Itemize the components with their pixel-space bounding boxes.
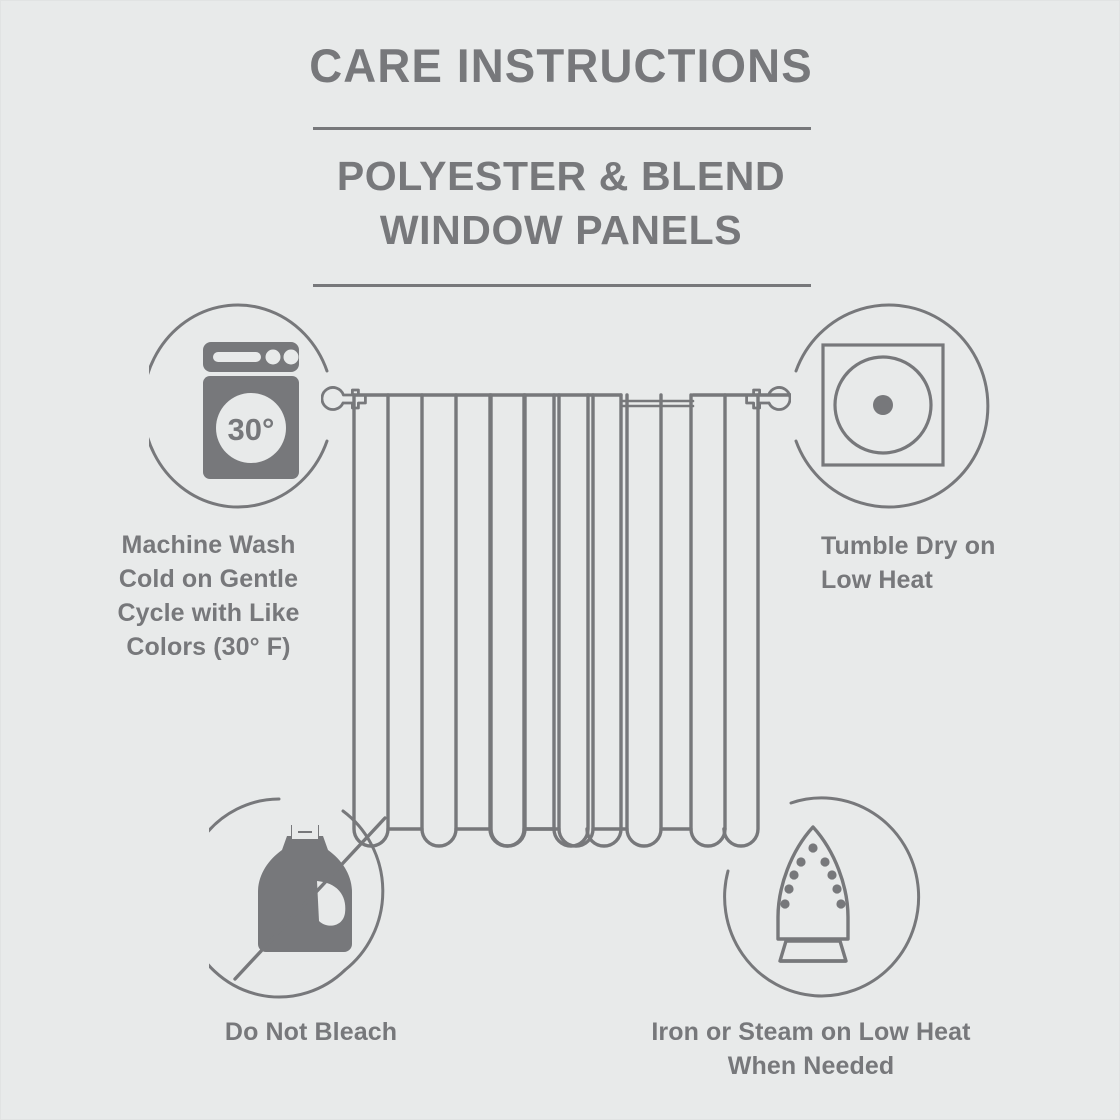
iron-steam-holes	[780, 843, 845, 908]
caption-do-not-bleach: Do Not Bleach	[131, 1015, 491, 1049]
wash-temp-label: 30°	[228, 412, 275, 447]
icon-badge-machine-wash: 30°	[149, 299, 354, 514]
curtain-rod	[621, 401, 693, 406]
icon-badge-iron-low	[716, 796, 931, 1011]
caption-machine-wash: Machine Wash Cold on Gentle Cycle with L…	[86, 528, 331, 664]
bleach-bottle-icon	[258, 825, 352, 952]
dryer-heat-dot	[873, 395, 893, 415]
caption-line: Cycle with Like	[86, 596, 331, 630]
subtitle-line-2: WINDOW PANELS	[1, 203, 1120, 257]
caption-line: Tumble Dry on	[821, 529, 1071, 563]
caption-line: Colors (30° F)	[86, 630, 331, 664]
caption-line: Do Not Bleach	[131, 1015, 491, 1049]
caption-line: When Needed	[596, 1049, 1026, 1083]
caption-line: Low Heat	[821, 563, 1071, 597]
curtain-rod-finial-right	[747, 387, 790, 409]
caption-line: Machine Wash	[86, 528, 331, 562]
icon-badge-do-not-bleach	[209, 796, 409, 1011]
icon-badge-tumble-dry	[786, 299, 1001, 514]
caption-line: Iron or Steam on Low Heat	[596, 1015, 1026, 1049]
caption-tumble-dry: Tumble Dry on Low Heat	[821, 529, 1071, 597]
badge-ring	[725, 798, 919, 996]
divider-top	[313, 127, 811, 130]
curtain-panel-right	[491, 395, 791, 846]
subtitle-line-1: POLYESTER & BLEND	[1, 149, 1120, 203]
caption-iron-low: Iron or Steam on Low Heat When Needed	[596, 1015, 1026, 1083]
divider-bottom	[313, 284, 811, 287]
curtain-panel-left	[354, 395, 621, 846]
care-instructions-infographic: CARE INSTRUCTIONS POLYESTER & BLEND WIND…	[0, 0, 1120, 1120]
caption-line: Cold on Gentle	[86, 562, 331, 596]
page-subtitle: POLYESTER & BLEND WINDOW PANELS	[1, 149, 1120, 257]
page-title: CARE INSTRUCTIONS	[18, 41, 1104, 90]
